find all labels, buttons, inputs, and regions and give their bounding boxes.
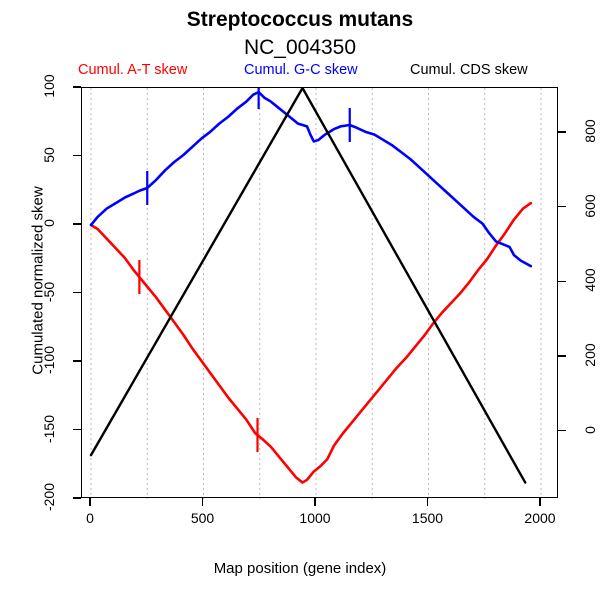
x-tick-label: 2000 <box>500 510 580 526</box>
y-tick-label-left: -150 <box>41 409 57 449</box>
legend-item-cds-skew: Cumul. CDS skew <box>410 62 528 78</box>
y-tick-label-left: -200 <box>41 477 57 517</box>
legend-item-at-skew: Cumul. A-T skew <box>78 62 187 78</box>
legend-item-gc-skew: Cumul. G-C skew <box>244 62 358 78</box>
x-tick-label: 1500 <box>388 510 468 526</box>
x-tick-mark <box>202 498 203 506</box>
y-tick-mark-left <box>73 292 81 293</box>
x-tick-mark <box>89 498 90 506</box>
x-tick-mark <box>539 498 540 506</box>
y-tick-label-left: 0 <box>41 203 57 243</box>
y-tick-mark-left <box>73 155 81 156</box>
y-tick-label-right: 400 <box>582 260 598 300</box>
y-tick-mark-left <box>73 497 81 498</box>
y-tick-label-left: -100 <box>41 340 57 380</box>
data-series-layer <box>91 88 531 483</box>
plot-area <box>81 87 558 498</box>
y-tick-mark-left <box>73 223 81 224</box>
plot-canvas <box>82 88 559 499</box>
x-tick-label: 500 <box>163 510 243 526</box>
y-tick-mark-right <box>558 355 566 356</box>
y-tick-label-right: 0 <box>582 410 598 450</box>
x-tick-mark <box>427 498 428 506</box>
series-tick-markers <box>139 88 349 452</box>
y-tick-mark-right <box>558 430 566 431</box>
y-tick-label-right: 800 <box>582 111 598 151</box>
x-tick-label: 1000 <box>275 510 355 526</box>
y-tick-label-right: 200 <box>582 335 598 375</box>
chart-legend: Cumul. A-T skew Cumul. G-C skew Cumul. C… <box>0 62 600 82</box>
y-tick-mark-right <box>558 206 566 207</box>
x-axis-label: Map position (gene index) <box>0 560 600 577</box>
y-tick-mark-right <box>558 131 566 132</box>
series-line <box>91 88 525 483</box>
chart-title-organism: Streptococcus mutans <box>0 8 600 32</box>
y-tick-label-right: 600 <box>582 186 598 226</box>
y-tick-mark-left <box>73 86 81 87</box>
y-tick-mark-left <box>73 360 81 361</box>
x-tick-mark <box>314 498 315 506</box>
chart-root: Streptococcus mutans NC_004350 Cumul. A-… <box>0 0 600 600</box>
y-tick-mark-right <box>558 281 566 282</box>
y-tick-label-left: 100 <box>41 66 57 106</box>
y-tick-label-left: 50 <box>41 135 57 175</box>
grid-lines <box>91 88 541 499</box>
x-tick-label: 0 <box>50 510 130 526</box>
y-tick-mark-left <box>73 429 81 430</box>
series-line <box>91 92 531 266</box>
y-tick-label-left: -50 <box>41 272 57 312</box>
chart-title-accession: NC_004350 <box>0 36 600 60</box>
